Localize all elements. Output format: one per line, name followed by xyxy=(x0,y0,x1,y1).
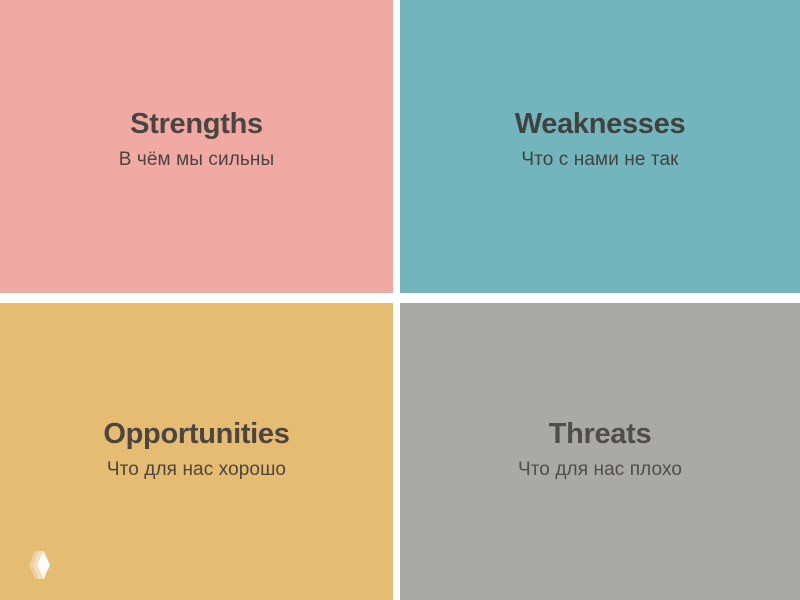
quadrant-weaknesses-title: Weaknesses xyxy=(418,110,782,139)
quadrant-opportunities-subtitle: Что для нас хорошо xyxy=(18,460,375,479)
quadrant-threats-subtitle: Что для нас плохо xyxy=(418,460,782,479)
quadrant-opportunities[interactable]: Opportunities Что для нас хорошо xyxy=(0,303,393,600)
gutter-horizontal-right xyxy=(400,293,800,303)
quadrant-weaknesses-text: Weaknesses Что с нами не так xyxy=(400,110,800,169)
gutter-horizontal-left xyxy=(0,293,393,303)
quadrant-weaknesses-subtitle: Что с нами не так xyxy=(418,150,782,169)
quadrant-threats-text: Threats Что для нас плохо xyxy=(400,420,800,479)
quadrant-strengths-subtitle: В чём мы сильны xyxy=(18,150,375,169)
swot-slide: Strengths В чём мы сильны Weaknesses Что… xyxy=(0,0,800,600)
quadrant-strengths-text: Strengths В чём мы сильны xyxy=(0,110,393,169)
quadrant-threats[interactable]: Threats Что для нас плохо xyxy=(400,303,800,600)
quadrant-weaknesses[interactable]: Weaknesses Что с нами не так xyxy=(400,0,800,293)
swot-grid: Strengths В чём мы сильны Weaknesses Что… xyxy=(0,0,800,600)
quadrant-opportunities-title: Opportunities xyxy=(18,420,375,449)
quadrant-opportunities-text: Opportunities Что для нас хорошо xyxy=(0,420,393,479)
quadrant-strengths-title: Strengths xyxy=(18,110,375,139)
gutter-cross-center xyxy=(393,293,400,303)
gutter-vertical-top xyxy=(393,0,400,293)
gutter-vertical-bottom xyxy=(393,303,400,600)
quadrant-strengths[interactable]: Strengths В чём мы сильны xyxy=(0,0,393,293)
quadrant-threats-title: Threats xyxy=(418,420,782,449)
